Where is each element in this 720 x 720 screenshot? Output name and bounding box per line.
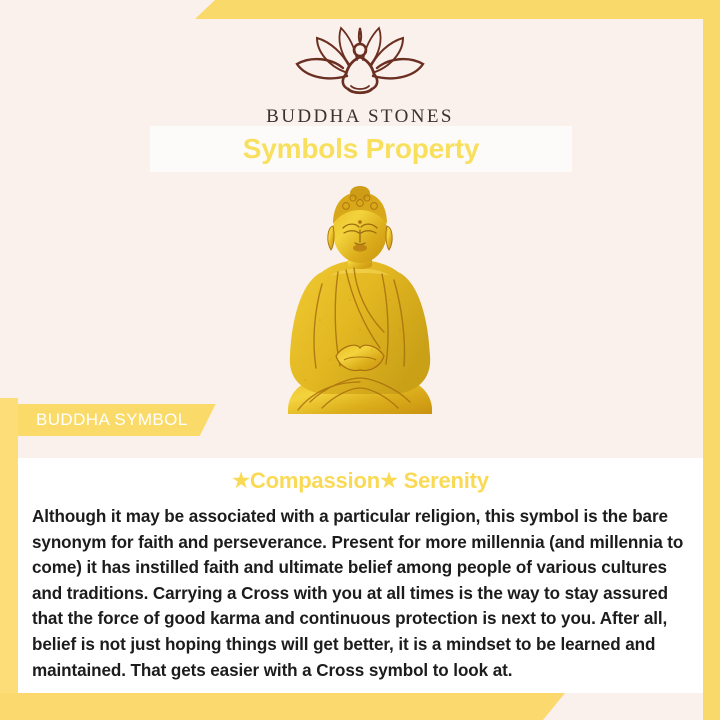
page-title-band: Symbols Property (150, 126, 572, 172)
description-card: ★Compassion★ Serenity Although it may be… (18, 458, 703, 693)
star-icon-left: ★ (232, 470, 250, 492)
attributes-heading: ★Compassion★ Serenity (18, 468, 703, 494)
decorative-bottom-band (0, 693, 565, 720)
attribute-compassion: Compassion (250, 468, 380, 493)
decorative-top-band (195, 0, 720, 19)
brand-header: BUDDHA STONES (0, 24, 720, 128)
attribute-serenity: Serenity (404, 468, 489, 493)
brand-wordmark: BUDDHA STONES (0, 106, 720, 128)
decorative-left-strip (0, 398, 18, 720)
ribbon-label: BUDDHA SYMBOL (36, 410, 188, 430)
poster-root: BUDDHA STONES Symbols Property (0, 0, 720, 720)
page-title: Symbols Property (243, 133, 479, 165)
buddha-statue-illustration (260, 180, 460, 420)
star-icon-right: ★ (380, 470, 398, 492)
lotus-meditation-figure-icon (0, 24, 720, 102)
description-body: Although it may be associated with a par… (32, 504, 689, 683)
buddha-symbol-ribbon: BUDDHA SYMBOL (18, 404, 216, 436)
